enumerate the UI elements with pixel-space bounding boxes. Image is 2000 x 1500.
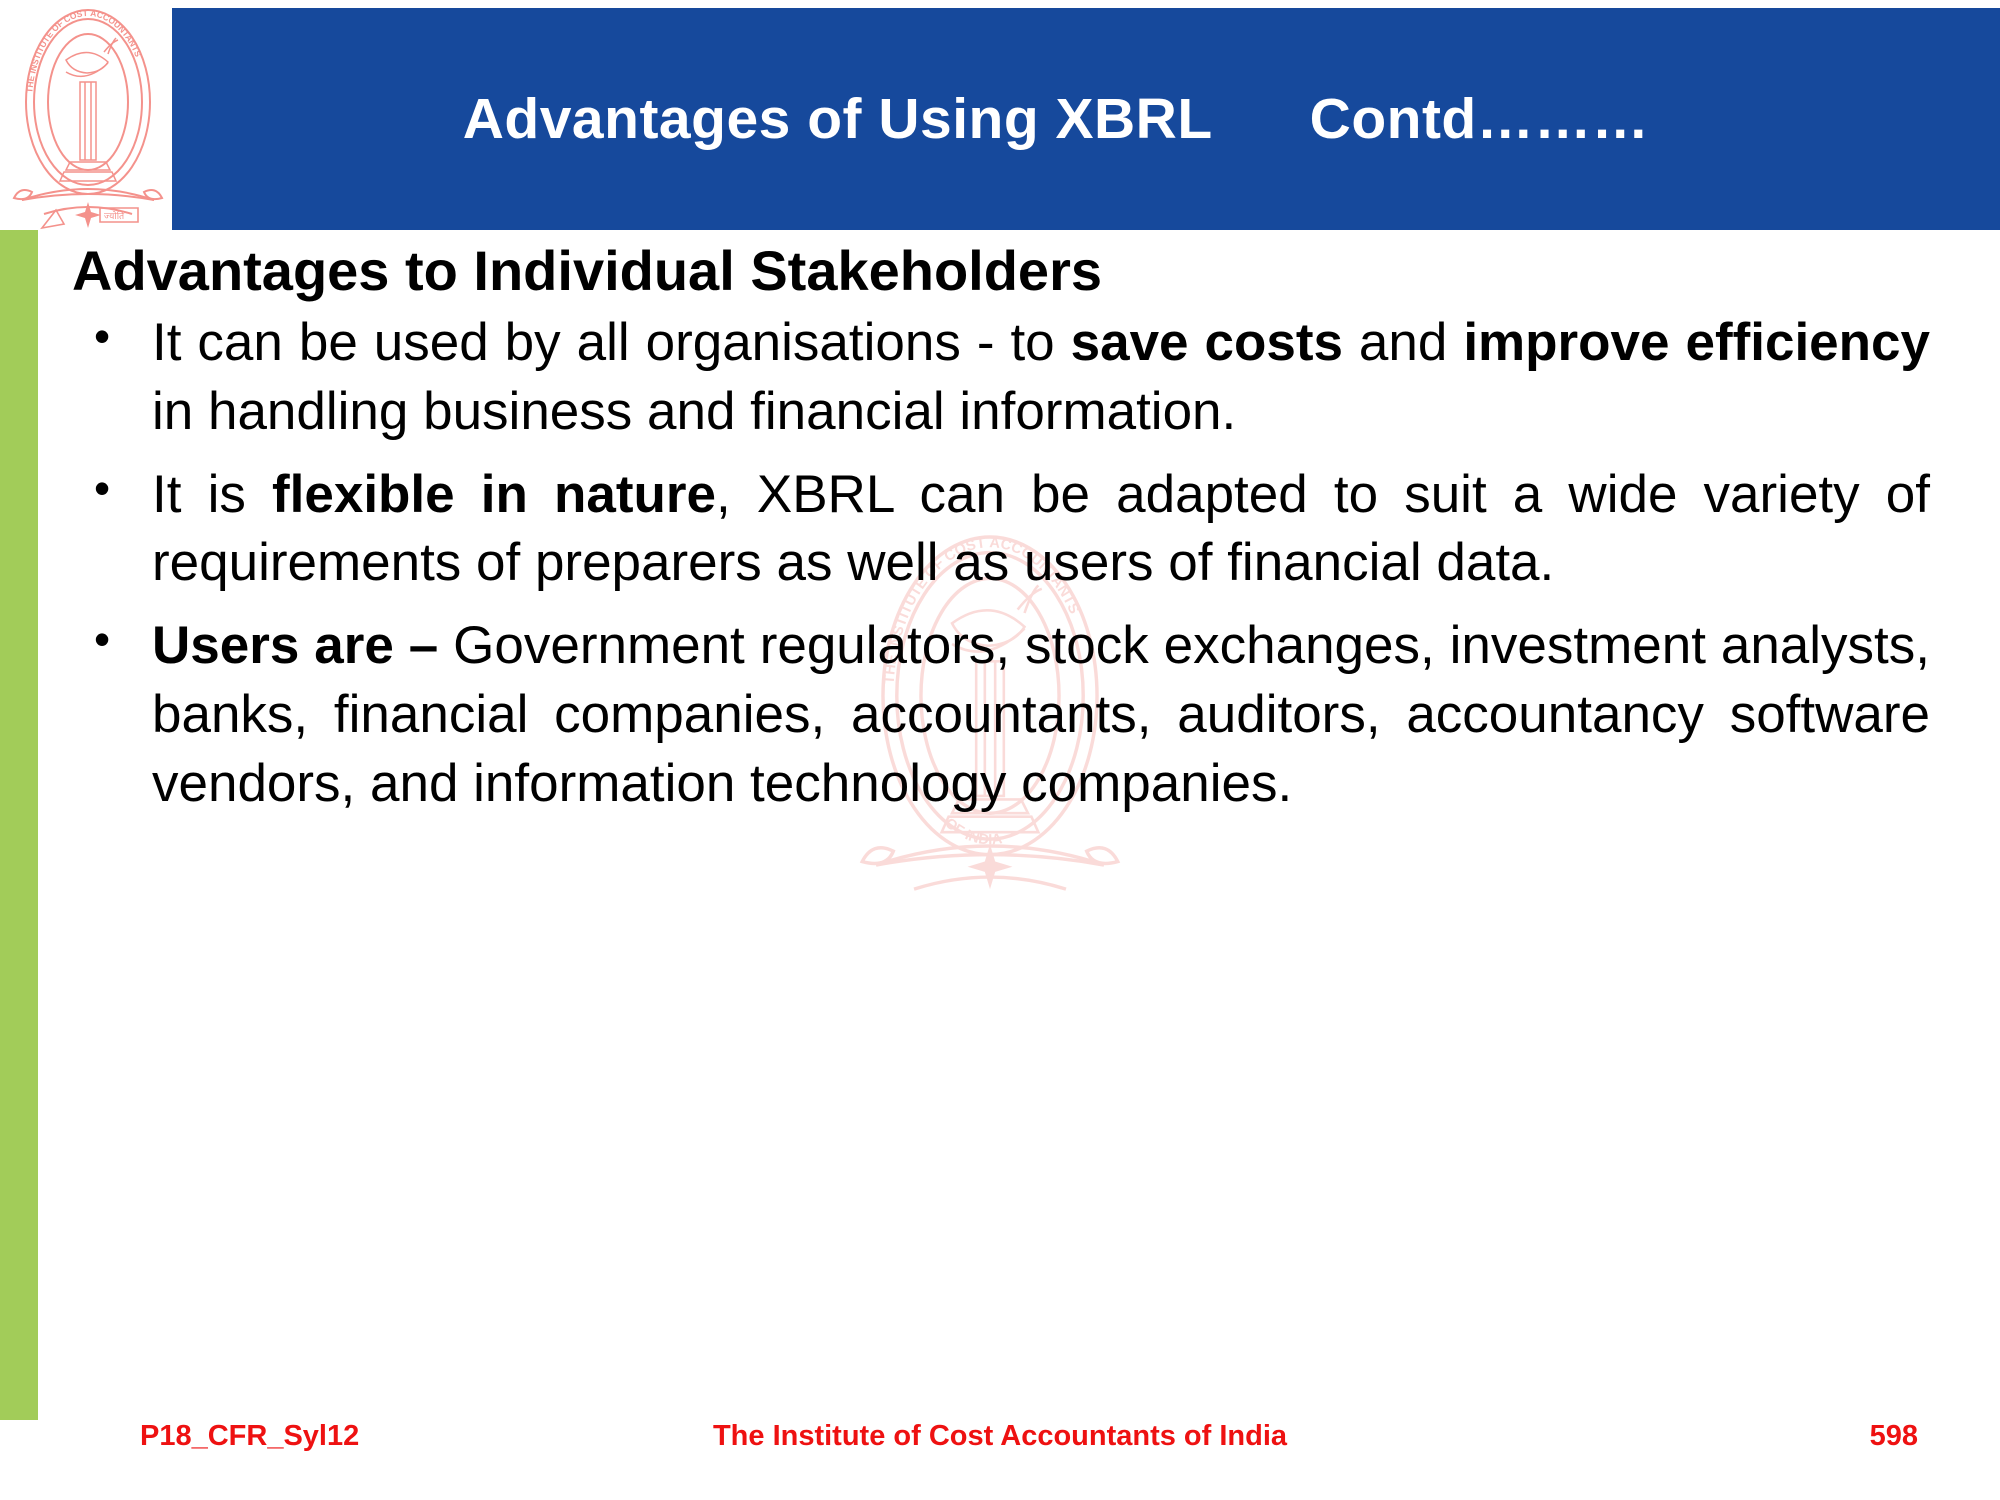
left-accent-strip bbox=[0, 230, 38, 1420]
institute-logo-icon: THE INSTITUTE OF COST ACCOUNTANTS ज्योति bbox=[4, 2, 172, 230]
footer-page-number: 598 bbox=[1870, 1420, 1918, 1453]
emphasis-text: flexible in nature bbox=[272, 465, 716, 524]
body-text: It can be used by all organisations - to bbox=[152, 313, 1071, 372]
content-subheading: Advantages to Individual Stakeholders bbox=[72, 240, 1930, 303]
emphasis-text: improve efficiency bbox=[1463, 313, 1930, 372]
emphasis-text: save costs bbox=[1071, 313, 1343, 372]
body-text: It is bbox=[152, 465, 272, 524]
body-text: in handling business and financial infor… bbox=[152, 382, 1236, 441]
page-title: Advantages of Using XBRL Contd……… bbox=[172, 8, 2000, 230]
bullet-item-3: Users are – Government regulators, stock… bbox=[72, 612, 1930, 819]
emphasis-text: Users are – bbox=[152, 616, 453, 675]
bullet-item-2: It is flexible in nature, XBRL can be ad… bbox=[72, 461, 1930, 599]
body-text: and bbox=[1343, 313, 1463, 372]
slide-footer: P18_CFR_Syl12 The Institute of Cost Acco… bbox=[0, 1420, 2000, 1480]
svg-text:ज्योति: ज्योति bbox=[104, 210, 125, 221]
bullet-list: It can be used by all organisations - to… bbox=[72, 309, 1930, 819]
content-area: Advantages to Individual Stakeholders It… bbox=[72, 240, 1930, 1390]
slide: Advantages of Using XBRL Contd……… bbox=[0, 0, 2000, 1500]
bullet-item-1: It can be used by all organisations - to… bbox=[72, 309, 1930, 447]
footer-institute-name: The Institute of Cost Accountants of Ind… bbox=[0, 1420, 2000, 1453]
institute-logo: THE INSTITUTE OF COST ACCOUNTANTS ज्योति bbox=[4, 2, 172, 230]
